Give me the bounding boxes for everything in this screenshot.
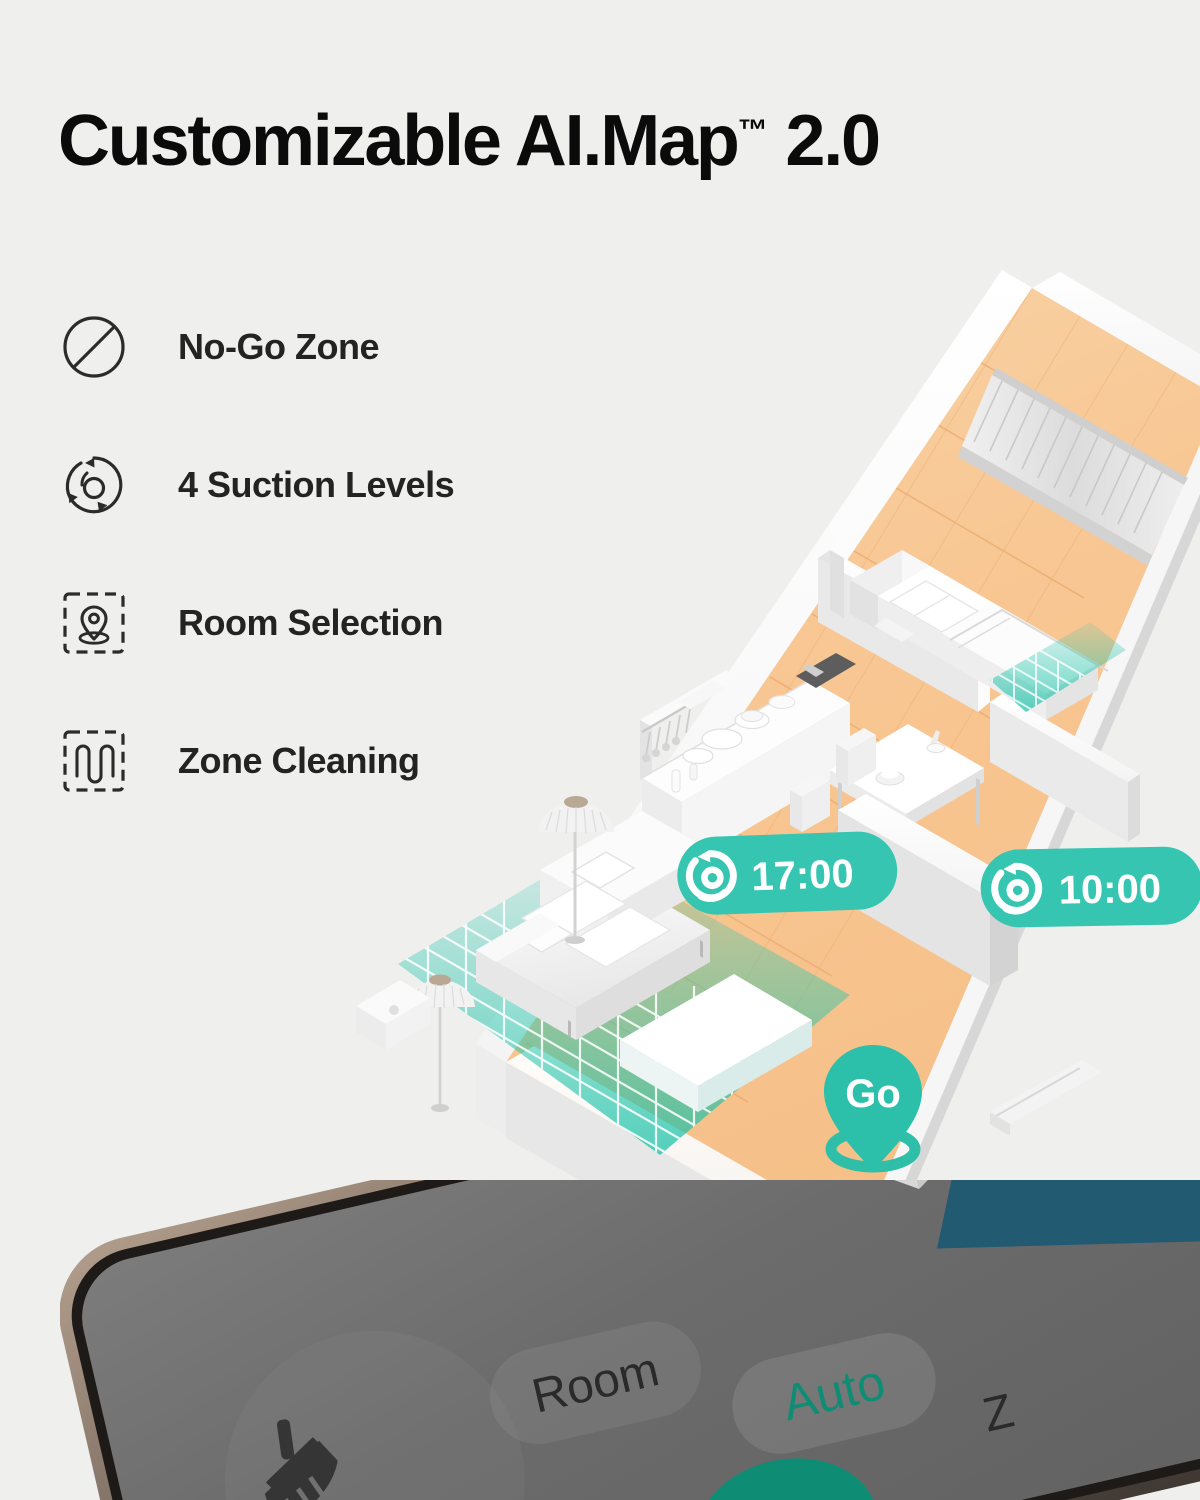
- page-title-main: Customizable AI.Map: [58, 101, 738, 181]
- room-selection-icon: [58, 587, 130, 659]
- trademark-symbol: ™: [738, 114, 768, 147]
- no-go-zone-icon: [58, 311, 130, 383]
- page-title: Customizable AI.Map™ 2.0: [58, 104, 879, 180]
- page-title-version: 2.0: [768, 101, 879, 181]
- phone-mockup: Room Auto Z: [60, 1180, 1200, 1500]
- zone-cleaning-icon: [58, 725, 130, 797]
- schedule-badge-2: 10:00: [980, 846, 1200, 928]
- schedule-badge-1: 17:00: [676, 830, 899, 916]
- promo-page: Customizable AI.Map™ 2.0 No-Go Zone: [0, 0, 1200, 1500]
- schedule-badge-time: 10:00: [1058, 867, 1161, 913]
- go-pin-label: Go: [845, 1072, 901, 1116]
- schedule-badge-time: 17:00: [751, 852, 855, 900]
- suction-swirl-icon: [58, 449, 130, 521]
